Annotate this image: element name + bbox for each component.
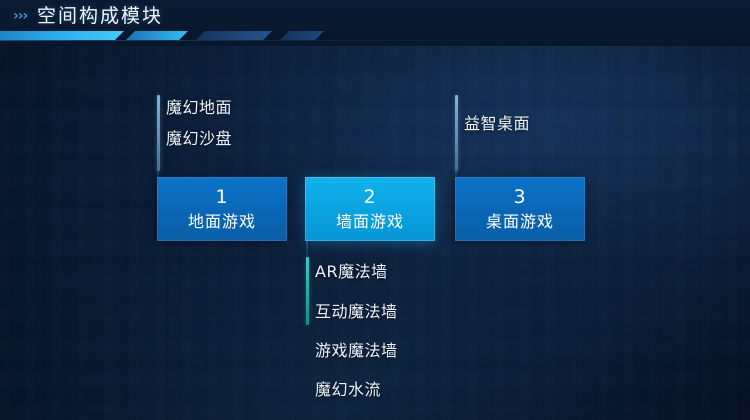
header-strip-bright-secondary xyxy=(126,31,188,40)
header-divider xyxy=(0,40,750,41)
box-label-wall: 墙面游戏 xyxy=(336,209,404,234)
box-number-wall: 2 xyxy=(363,185,376,209)
triple-chevron-right-icon: ››› xyxy=(13,9,27,23)
connector-wall xyxy=(306,241,308,257)
box-number-desktop: 3 xyxy=(513,185,526,209)
box-floor-game[interactable]: 1 地面游戏 xyxy=(157,177,287,241)
accent-bar-floor-notes xyxy=(157,95,160,171)
note-wall-4: 魔幻水流 xyxy=(315,374,381,405)
page-title: 空间构成模块 xyxy=(37,5,163,28)
box-label-desktop: 桌面游戏 xyxy=(486,209,554,234)
slide-canvas: ››› 空间构成模块 魔幻地面 魔幻沙盘 1 地面游戏 2 墙面游戏 AR魔法墙… xyxy=(0,0,750,420)
box-wall-game[interactable]: 2 墙面游戏 xyxy=(305,177,435,241)
box-label-floor: 地面游戏 xyxy=(188,209,256,234)
note-wall-1: AR魔法墙 xyxy=(315,256,388,287)
note-wall-3: 游戏魔法墙 xyxy=(315,335,398,366)
box-desktop-game[interactable]: 3 桌面游戏 xyxy=(455,177,585,241)
note-floor-2: 魔幻沙盘 xyxy=(166,123,232,154)
note-wall-2: 互动魔法墙 xyxy=(315,296,398,327)
note-floor-1: 魔幻地面 xyxy=(166,92,232,123)
note-desktop-1: 益智桌面 xyxy=(464,108,530,139)
header-strip-bright-primary xyxy=(0,31,124,40)
accent-bar-wall-notes xyxy=(306,257,309,325)
slide-header: ››› 空间构成模块 xyxy=(0,0,750,46)
accent-bar-desktop-notes xyxy=(455,95,458,171)
box-number-floor: 1 xyxy=(215,185,228,209)
header-strip-dark-primary xyxy=(196,31,272,40)
